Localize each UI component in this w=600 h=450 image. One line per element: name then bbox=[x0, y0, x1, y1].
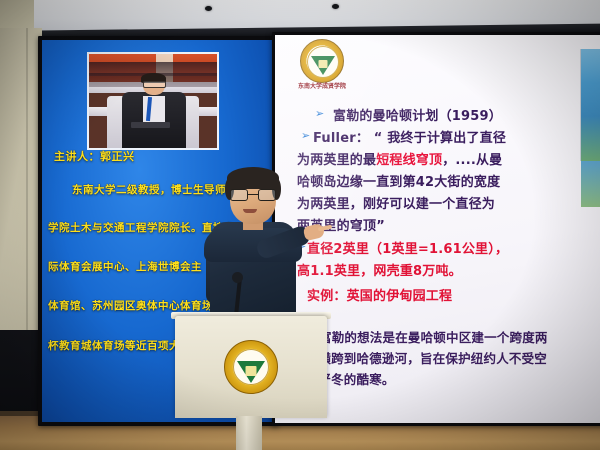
eden-project-thumbnail-2 bbox=[581, 161, 600, 207]
lectern-emblem-icon bbox=[224, 340, 278, 394]
eden-project-thumbnail bbox=[580, 49, 600, 161]
microphone-icon bbox=[232, 272, 243, 283]
highlighted-term: 短程线穹顶 bbox=[376, 153, 442, 168]
university-seal-icon bbox=[300, 39, 344, 83]
bullet-arrow-icon: ➢ bbox=[315, 108, 324, 119]
slide-body-line-3: 为两英里，刚好可以建一个直径为 bbox=[297, 193, 495, 212]
slide-line-speaker-name: 主讲人：郭正兴 bbox=[54, 148, 135, 164]
slide-red-line-1: 高1.1英里，网壳重8万吨。 bbox=[297, 260, 462, 279]
university-logo-caption: 东南大学成贤学院 bbox=[293, 81, 351, 90]
slide-body-line-1: 为两英里的最短程线穹顶，....从曼 bbox=[297, 149, 502, 168]
slide-paragraph-line-1: 东河横跨到哈德逊河，旨在保护纽约人不受空 bbox=[293, 348, 547, 367]
slide-body-line-0: Fuller： “ 我终于计算出了直径 bbox=[313, 127, 506, 146]
slide-red-line-2: 实例：英国的伊甸园工程 bbox=[307, 285, 452, 304]
university-logo: 东南大学成贤学院 bbox=[293, 39, 351, 101]
presenter bbox=[196, 166, 312, 318]
slide-body-line-2: 哈顿岛边缘一直到第42大街的宽度 bbox=[297, 171, 500, 190]
lectern bbox=[175, 316, 327, 418]
presenter-mouth bbox=[243, 209, 257, 213]
slide-line-3: 际体育会展中心、上海世博会主 bbox=[48, 259, 202, 274]
spotlight-icon bbox=[332, 4, 339, 9]
lectern-base bbox=[236, 416, 262, 450]
slide-heading: 富勒的曼哈顿计划（1959） bbox=[333, 105, 502, 124]
bullet-arrow-icon: ➢ bbox=[301, 130, 310, 141]
slide-paragraph-line-0: 富勒的想法是在曼哈顿中区建一个跨度两 bbox=[319, 327, 548, 346]
lecture-hall-scene: 主讲人：郭正兴 东南大学二级教授，博士生导师，东南大 学院土木与交通工程学院院长… bbox=[0, 0, 600, 450]
speaker-photo bbox=[87, 52, 219, 150]
body-line-1-post: ，....从曼 bbox=[442, 153, 502, 168]
slide-red-line-0: 直径2英里（1英里=1.61公里）， bbox=[307, 238, 508, 257]
spotlight-icon bbox=[205, 6, 212, 11]
glasses-icon bbox=[230, 189, 276, 201]
